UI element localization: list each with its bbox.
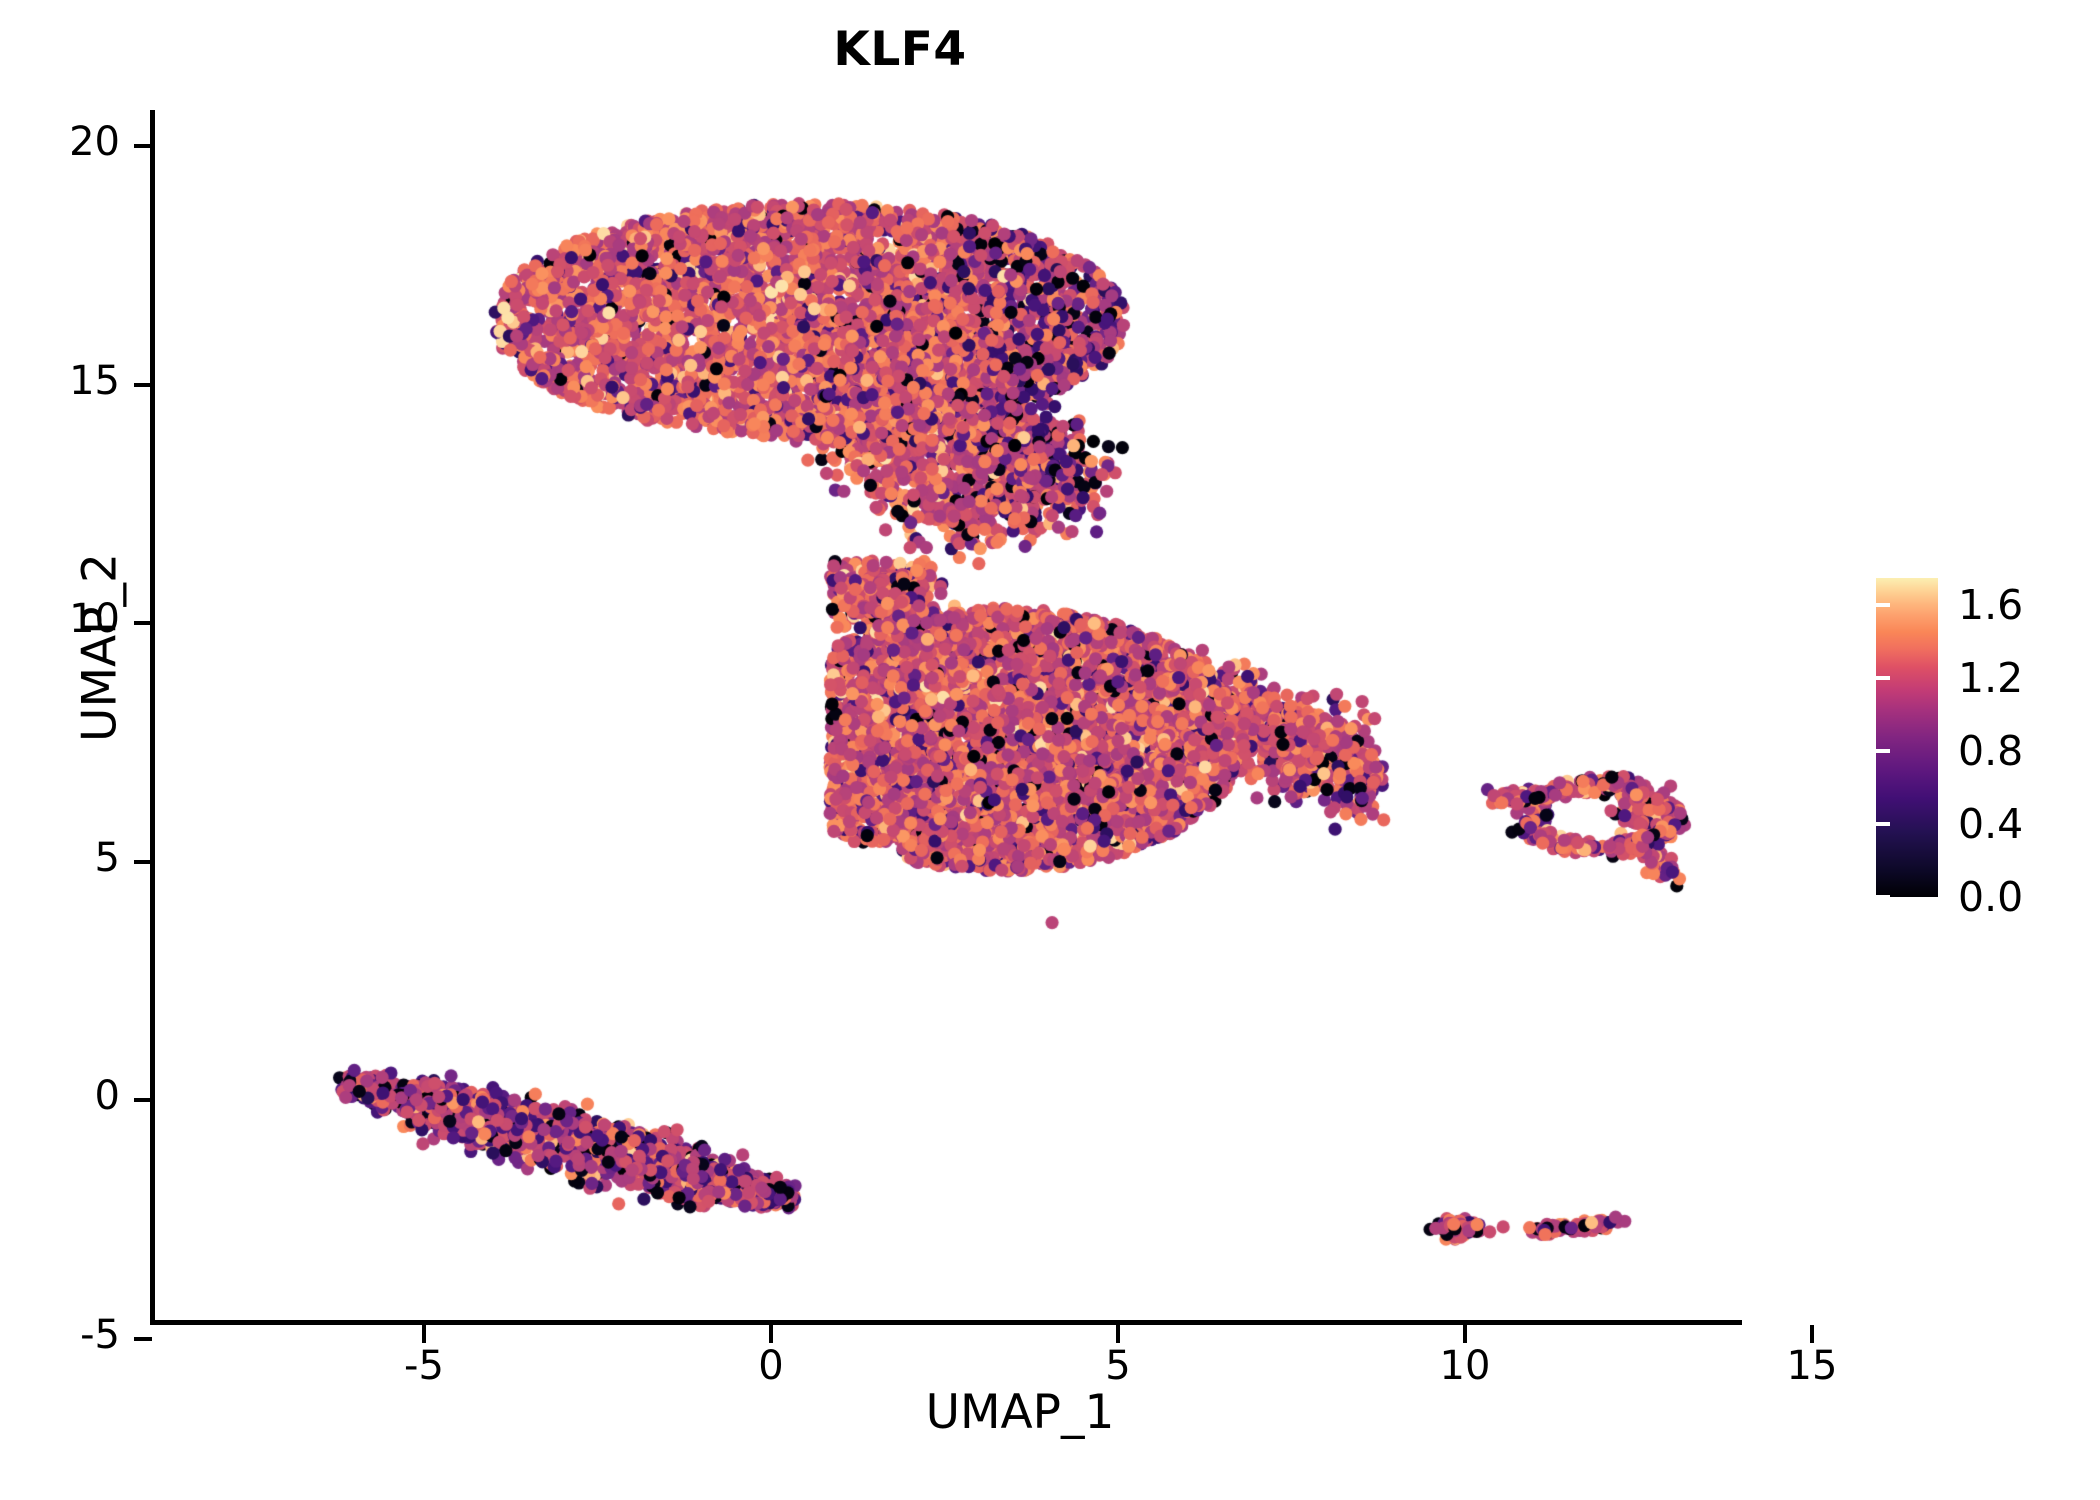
x-tick-label: -5 [354,1343,494,1389]
colorbar-tick-mark [1876,676,1890,680]
colorbar-tick-mark [1862,749,1876,753]
colorbar-gradient [1876,578,1938,897]
y-tick-label: -5 [0,1312,140,1358]
colorbar-tick-label: 0.8 [1958,727,2023,775]
y-axis-line [150,110,155,1325]
colorbar-tick-mark [1862,822,1876,826]
colorbar-tick-mark [1876,603,1890,607]
x-tick-label: 10 [1395,1343,1535,1389]
colorbar-tick-mark [1862,603,1876,607]
colorbar-tick-label: 1.6 [1958,581,2023,629]
x-tick-mark [1810,1325,1814,1343]
x-tick-label: 5 [1048,1343,1188,1389]
scatter-plot-canvas [0,0,2100,1500]
x-tick-mark [769,1325,773,1343]
colorbar-tick-mark [1876,895,1890,899]
x-tick-mark [1116,1325,1120,1343]
colorbar-tick-mark [1876,749,1890,753]
colorbar-tick-mark [1876,822,1890,826]
colorbar-tick-mark [1862,895,1876,899]
y-axis-label: UMAP_2 [73,298,128,998]
x-axis-label: UMAP_1 [620,1385,1420,1440]
x-axis-line [150,1320,1742,1325]
x-tick-mark [422,1325,426,1343]
x-tick-label: 0 [701,1343,841,1389]
y-tick-label: 20 [0,119,140,165]
colorbar-tick-label: 1.2 [1958,654,2023,702]
x-tick-mark [1463,1325,1467,1343]
x-tick-label: 15 [1742,1343,1882,1389]
colorbar-tick-mark [1862,676,1876,680]
colorbar-tick-label: 0.0 [1958,873,2023,921]
colorbar-tick-label: 0.4 [1958,800,2023,848]
umap-feature-plot: KLF4 20151050-5 -5051015 UMAP_1 UMAP_2 1… [0,0,2100,1500]
y-tick-label: 0 [0,1073,140,1119]
